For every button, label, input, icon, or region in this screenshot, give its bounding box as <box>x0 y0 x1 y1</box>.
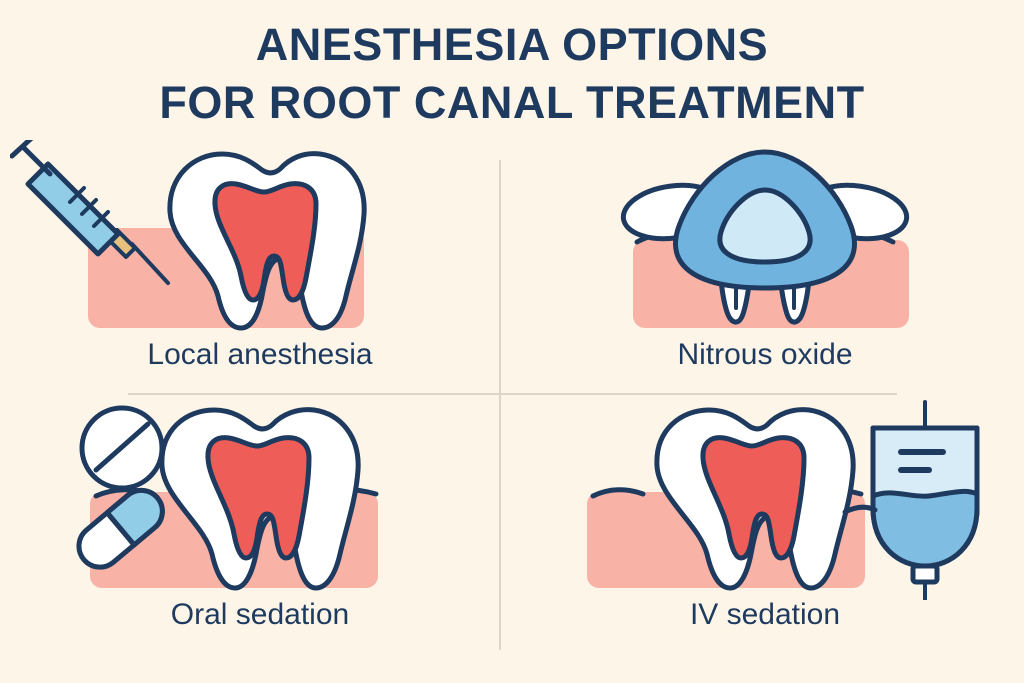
option-cell-oral-sedation: Oral sedation <box>10 400 510 660</box>
page-title: ANESTHESIA OPTIONS FOR ROOT CANAL TREATM… <box>0 16 1024 132</box>
option-label-iv-sedation: IV sedation <box>515 598 1015 632</box>
option-cell-nitrous-oxide: Nitrous oxide <box>515 140 1015 400</box>
option-label-local-anesthesia: Local anesthesia <box>10 338 510 372</box>
option-cell-iv-sedation: IV sedation <box>515 400 1015 660</box>
title-line-1: ANESTHESIA OPTIONS <box>0 16 1024 74</box>
pills-tooth-icon <box>10 400 510 600</box>
infographic-page: ANESTHESIA OPTIONS FOR ROOT CANAL TREATM… <box>0 0 1024 683</box>
option-cell-local-anesthesia: Local anesthesia <box>10 140 510 400</box>
nasal-mask-tooth-icon <box>515 140 1015 340</box>
title-line-2: FOR ROOT CANAL TREATMENT <box>0 74 1024 132</box>
syringe-tooth-icon <box>10 140 510 340</box>
option-label-oral-sedation: Oral sedation <box>10 598 510 632</box>
option-label-nitrous-oxide: Nitrous oxide <box>515 338 1015 372</box>
iv-drip-tooth-icon <box>515 400 1015 600</box>
